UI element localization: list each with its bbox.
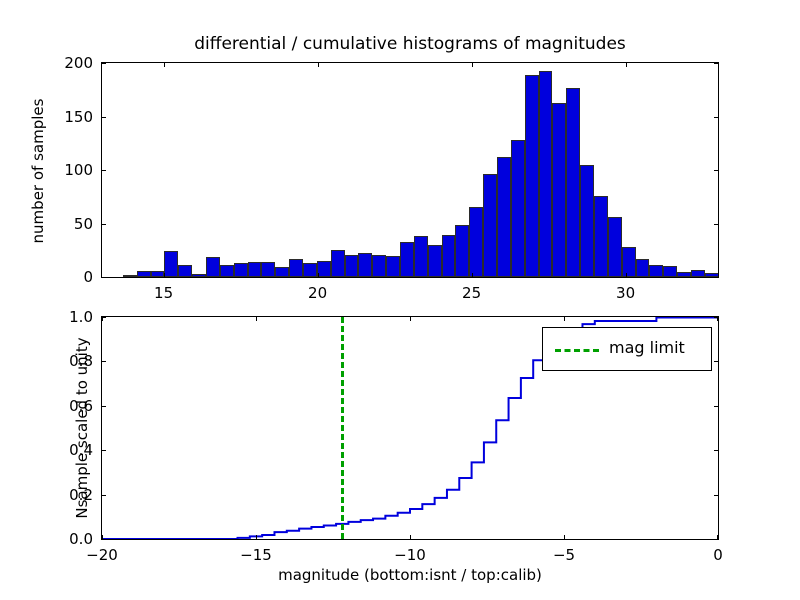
top-y-tick [102, 117, 106, 118]
bottom-y-tick [714, 406, 718, 407]
histogram-bar [469, 207, 483, 277]
bottom-y-axis-label: Nsample scaled to unity [73, 298, 91, 558]
bottom-y-tick-label: 0.8 [39, 352, 93, 370]
histogram-bar [663, 266, 677, 277]
bottom-y-tick [102, 450, 106, 451]
bottom-x-tick [256, 317, 257, 321]
bottom-x-tick [564, 317, 565, 321]
top-y-tick-label: 100 [39, 161, 93, 179]
top-y-tick [102, 224, 106, 225]
top-x-tick [626, 63, 627, 67]
histogram-bar [386, 256, 400, 277]
top-x-tick-label: 15 [154, 284, 173, 302]
histogram-bar [622, 247, 636, 277]
top-y-tick [714, 277, 718, 278]
histogram-bar [677, 272, 691, 277]
bottom-x-tick-label: −15 [240, 546, 272, 564]
bottom-x-axis-label: magnitude (bottom:isnt / top:calib) [101, 566, 719, 584]
top-x-tick-label: 20 [308, 284, 327, 302]
bottom-x-tick [564, 535, 565, 539]
histogram-bar [261, 262, 275, 277]
histogram-bar [192, 274, 206, 277]
top-x-tick [164, 63, 165, 67]
top-y-tick [102, 63, 106, 64]
histogram-bar [164, 251, 178, 277]
top-y-tick-label: 0 [39, 268, 93, 286]
top-y-tick-label: 200 [39, 54, 93, 72]
bottom-y-tick [102, 539, 106, 540]
histogram-bar [608, 217, 622, 277]
histogram-bar [400, 242, 414, 277]
histogram-bar [497, 157, 511, 277]
top-x-tick [472, 63, 473, 67]
top-histogram-axes [101, 62, 719, 278]
histogram-bar [151, 271, 165, 277]
top-y-tick [714, 63, 718, 64]
top-y-tick [714, 170, 718, 171]
bottom-y-tick-label: 0.0 [39, 530, 93, 548]
bottom-y-tick-label: 0.4 [39, 441, 93, 459]
bottom-y-tick [714, 495, 718, 496]
legend-box[interactable]: mag limit [542, 327, 712, 371]
histogram-bar [566, 88, 580, 277]
histogram-bar [358, 253, 372, 277]
histogram-bar [331, 250, 345, 277]
histogram-bar [317, 261, 331, 277]
histogram-bar [123, 275, 137, 277]
histogram-bar [206, 257, 220, 277]
bottom-x-tick [410, 317, 411, 321]
histogram-bar [178, 265, 192, 277]
bottom-y-tick [102, 495, 106, 496]
histogram-bar [636, 259, 650, 277]
bottom-y-tick [714, 317, 718, 318]
mag-limit-line [341, 317, 344, 539]
bottom-y-tick-label: 1.0 [39, 308, 93, 326]
histogram-bar [248, 262, 262, 277]
top-y-tick [102, 170, 106, 171]
bottom-x-tick-label: −5 [553, 546, 575, 564]
bottom-y-tick [714, 450, 718, 451]
histogram-bar [525, 75, 539, 277]
histogram-bar [580, 165, 594, 277]
top-y-tick-label: 150 [39, 108, 93, 126]
bottom-x-tick-label: −10 [394, 546, 426, 564]
histogram-bar [289, 259, 303, 277]
histogram-bar [691, 270, 705, 277]
bottom-y-tick-label: 0.2 [39, 486, 93, 504]
bottom-x-tick-label: −20 [86, 546, 118, 564]
histogram-bar [552, 103, 566, 277]
histogram-bar [372, 255, 386, 277]
bottom-x-tick [410, 535, 411, 539]
top-x-tick [164, 273, 165, 277]
bottom-y-tick-label: 0.6 [39, 397, 93, 415]
top-x-tick [472, 273, 473, 277]
top-y-tick-label: 50 [39, 215, 93, 233]
histogram-bar [428, 245, 442, 277]
histogram-bar [455, 225, 469, 277]
top-y-tick [714, 117, 718, 118]
histogram-bar [539, 71, 553, 278]
cumulative-axes: mag limit [101, 316, 719, 540]
top-x-tick [318, 63, 319, 67]
histogram-bar [303, 263, 317, 277]
legend-label-mag-limit: mag limit [609, 338, 685, 357]
top-x-tick-label: 25 [462, 284, 481, 302]
histogram-bar [414, 236, 428, 277]
histogram-bar [345, 255, 359, 277]
histogram-bar [234, 263, 248, 277]
histogram-bar [649, 265, 663, 277]
bottom-y-tick [714, 361, 718, 362]
bottom-y-tick [102, 317, 106, 318]
histogram-bar [220, 265, 234, 277]
top-x-tick [318, 273, 319, 277]
histogram-bar [137, 271, 151, 277]
histogram-bars [102, 63, 718, 277]
histogram-bar [442, 235, 456, 277]
bottom-y-tick [102, 406, 106, 407]
bottom-x-tick [256, 535, 257, 539]
histogram-bar [483, 174, 497, 277]
bottom-x-tick-label: 0 [713, 546, 723, 564]
figure-title: differential / cumulative histograms of … [101, 34, 719, 54]
figure: differential / cumulative histograms of … [0, 0, 800, 600]
histogram-bar [275, 267, 289, 277]
bottom-y-tick [102, 361, 106, 362]
legend-dashed-line-icon [555, 349, 599, 352]
bottom-y-tick [714, 539, 718, 540]
top-x-tick [626, 273, 627, 277]
histogram-bar [511, 140, 525, 277]
histogram-bar [594, 196, 608, 277]
top-y-tick [714, 224, 718, 225]
top-x-tick-label: 30 [616, 284, 635, 302]
top-y-tick [102, 277, 106, 278]
